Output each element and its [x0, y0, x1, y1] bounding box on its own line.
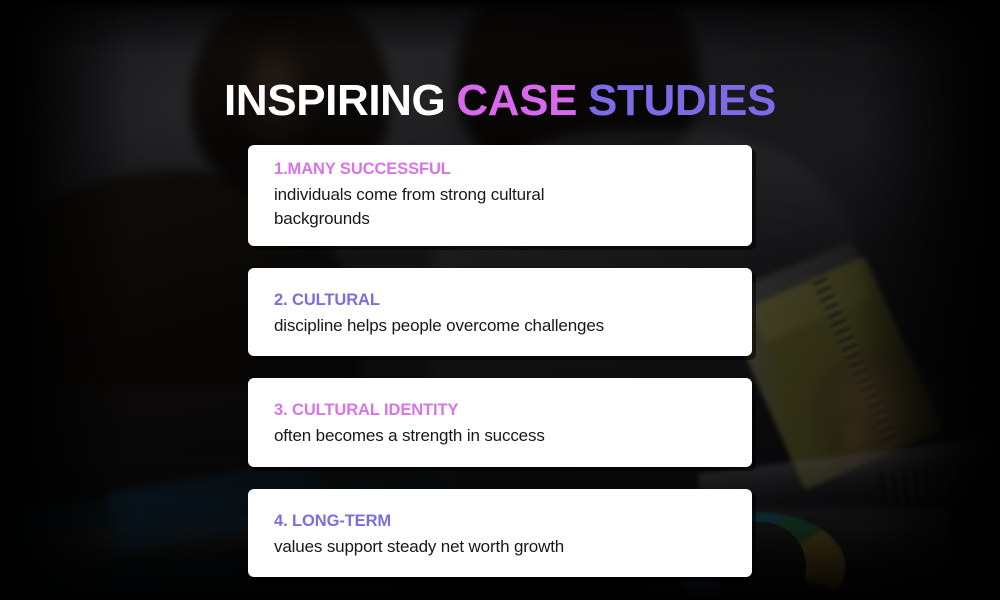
title-word-case: CASE	[456, 76, 577, 125]
case-study-card-list: 1.MANY SUCCESSFUL individuals come from …	[248, 145, 752, 599]
title-word-studies: STUDIES	[588, 76, 776, 125]
case-study-card[interactable]: 3. CULTURAL IDENTITY often becomes a str…	[248, 378, 752, 466]
card-body-line: discipline helps people overcome challen…	[274, 314, 726, 339]
card-body: individuals come from strong cultural ba…	[274, 183, 726, 232]
card-body: values support steady net worth growth	[274, 535, 726, 560]
slide-canvas: INSPIRINGCASESTUDIES 1.MANY SUCCESSFUL i…	[0, 0, 1000, 600]
slide-content: INSPIRINGCASESTUDIES 1.MANY SUCCESSFUL i…	[0, 0, 1000, 600]
title-word-inspiring: INSPIRING	[224, 76, 445, 125]
card-heading: 2. CULTURAL	[274, 288, 726, 313]
card-body: often becomes a strength in success	[274, 424, 726, 449]
case-study-card[interactable]: 1.MANY SUCCESSFUL individuals come from …	[248, 145, 752, 246]
page-title: INSPIRINGCASESTUDIES	[0, 78, 1000, 124]
card-heading: 1.MANY SUCCESSFUL	[274, 157, 726, 182]
card-body-line: backgrounds	[274, 207, 726, 232]
card-heading: 4. LONG-TERM	[274, 509, 726, 534]
card-body-line: often becomes a strength in success	[274, 424, 726, 449]
card-body-line: values support steady net worth growth	[274, 535, 726, 560]
card-heading: 3. CULTURAL IDENTITY	[274, 398, 726, 423]
case-study-card[interactable]: 2. CULTURAL discipline helps people over…	[248, 268, 752, 356]
card-body: discipline helps people overcome challen…	[274, 314, 726, 339]
case-study-card[interactable]: 4. LONG-TERM values support steady net w…	[248, 489, 752, 577]
card-body-line: individuals come from strong cultural	[274, 183, 726, 208]
